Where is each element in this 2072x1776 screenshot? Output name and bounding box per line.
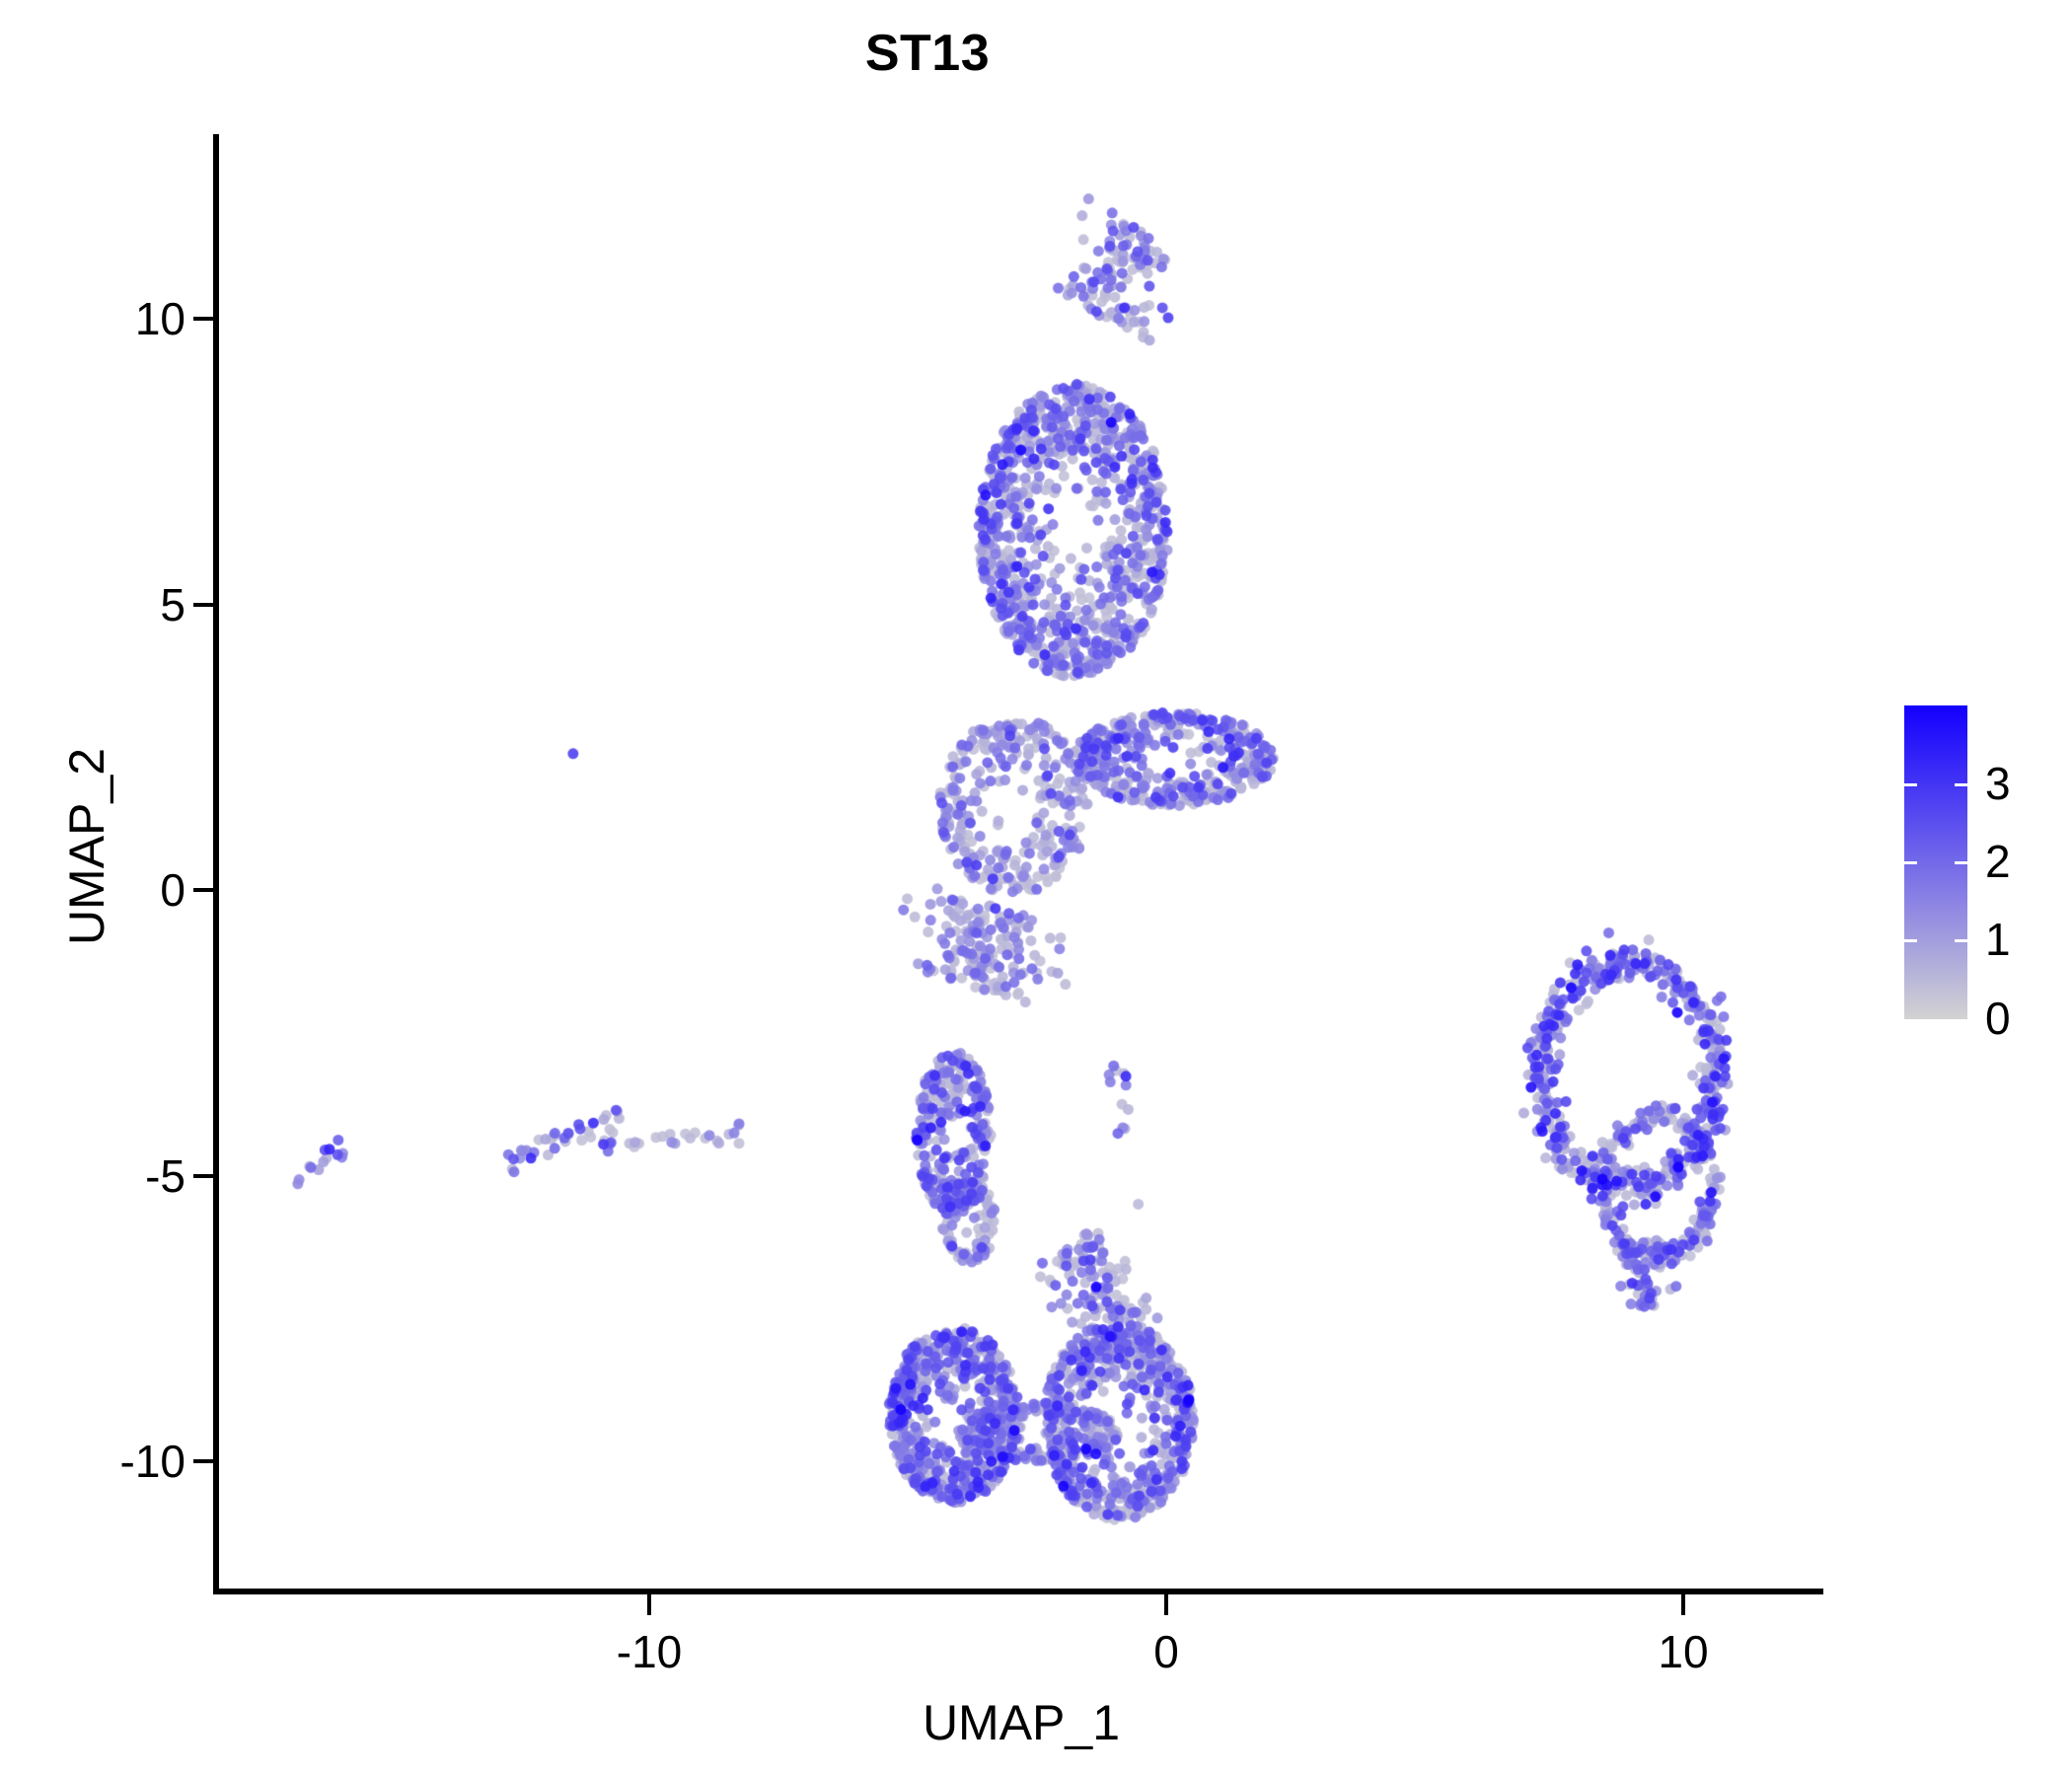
colorbar-label-0: 0: [1985, 996, 2064, 1041]
x-axis-line: [213, 1589, 1823, 1594]
colorbar-label-3: 3: [1985, 761, 2064, 806]
y-tick-label-m10: -10: [57, 1439, 185, 1484]
x-tick-mark-10: [1681, 1594, 1685, 1615]
scatter-plot-panel[interactable]: [219, 138, 1823, 1591]
umap-scatter-canvas[interactable]: [219, 138, 1823, 1591]
y-axis-line: [213, 134, 219, 1594]
colorbar-label-2: 2: [1985, 839, 2064, 884]
colorbar-label-1: 1: [1985, 917, 2064, 962]
x-tick-label-m10: -10: [551, 1626, 748, 1677]
x-tick-mark-m10: [647, 1594, 651, 1615]
feature-plot-page: ST13 10 5 0 -5 -10 -10 0 10 UMAP_1 UMAP_…: [0, 0, 2072, 1776]
y-tick-mark-5: [193, 603, 214, 607]
colorbar-tick-2-right: [1955, 861, 1967, 864]
y-tick-mark-0: [193, 888, 214, 892]
colorbar-tick-3-right: [1955, 783, 1967, 786]
y-tick-label-10: 10: [57, 296, 185, 341]
y-tick-mark-10: [193, 317, 214, 321]
colorbar-tick-1-left: [1904, 939, 1917, 942]
y-axis-title: UMAP_2: [59, 472, 114, 1221]
colorbar-legend[interactable]: 3 2 1 0: [1904, 705, 2052, 1021]
x-tick-label-10: 10: [1585, 1626, 1782, 1677]
colorbar-tick-2-left: [1904, 861, 1917, 864]
y-tick-mark-m5: [193, 1174, 214, 1178]
colorbar-tick-3-left: [1904, 783, 1917, 786]
y-tick-mark-m10: [193, 1459, 214, 1463]
page-title: ST13: [0, 26, 1855, 82]
colorbar-tick-1-right: [1955, 939, 1967, 942]
x-tick-mark-0: [1164, 1594, 1168, 1615]
x-tick-label-0: 0: [1068, 1626, 1265, 1677]
x-axis-title: UMAP_1: [219, 1695, 1823, 1750]
